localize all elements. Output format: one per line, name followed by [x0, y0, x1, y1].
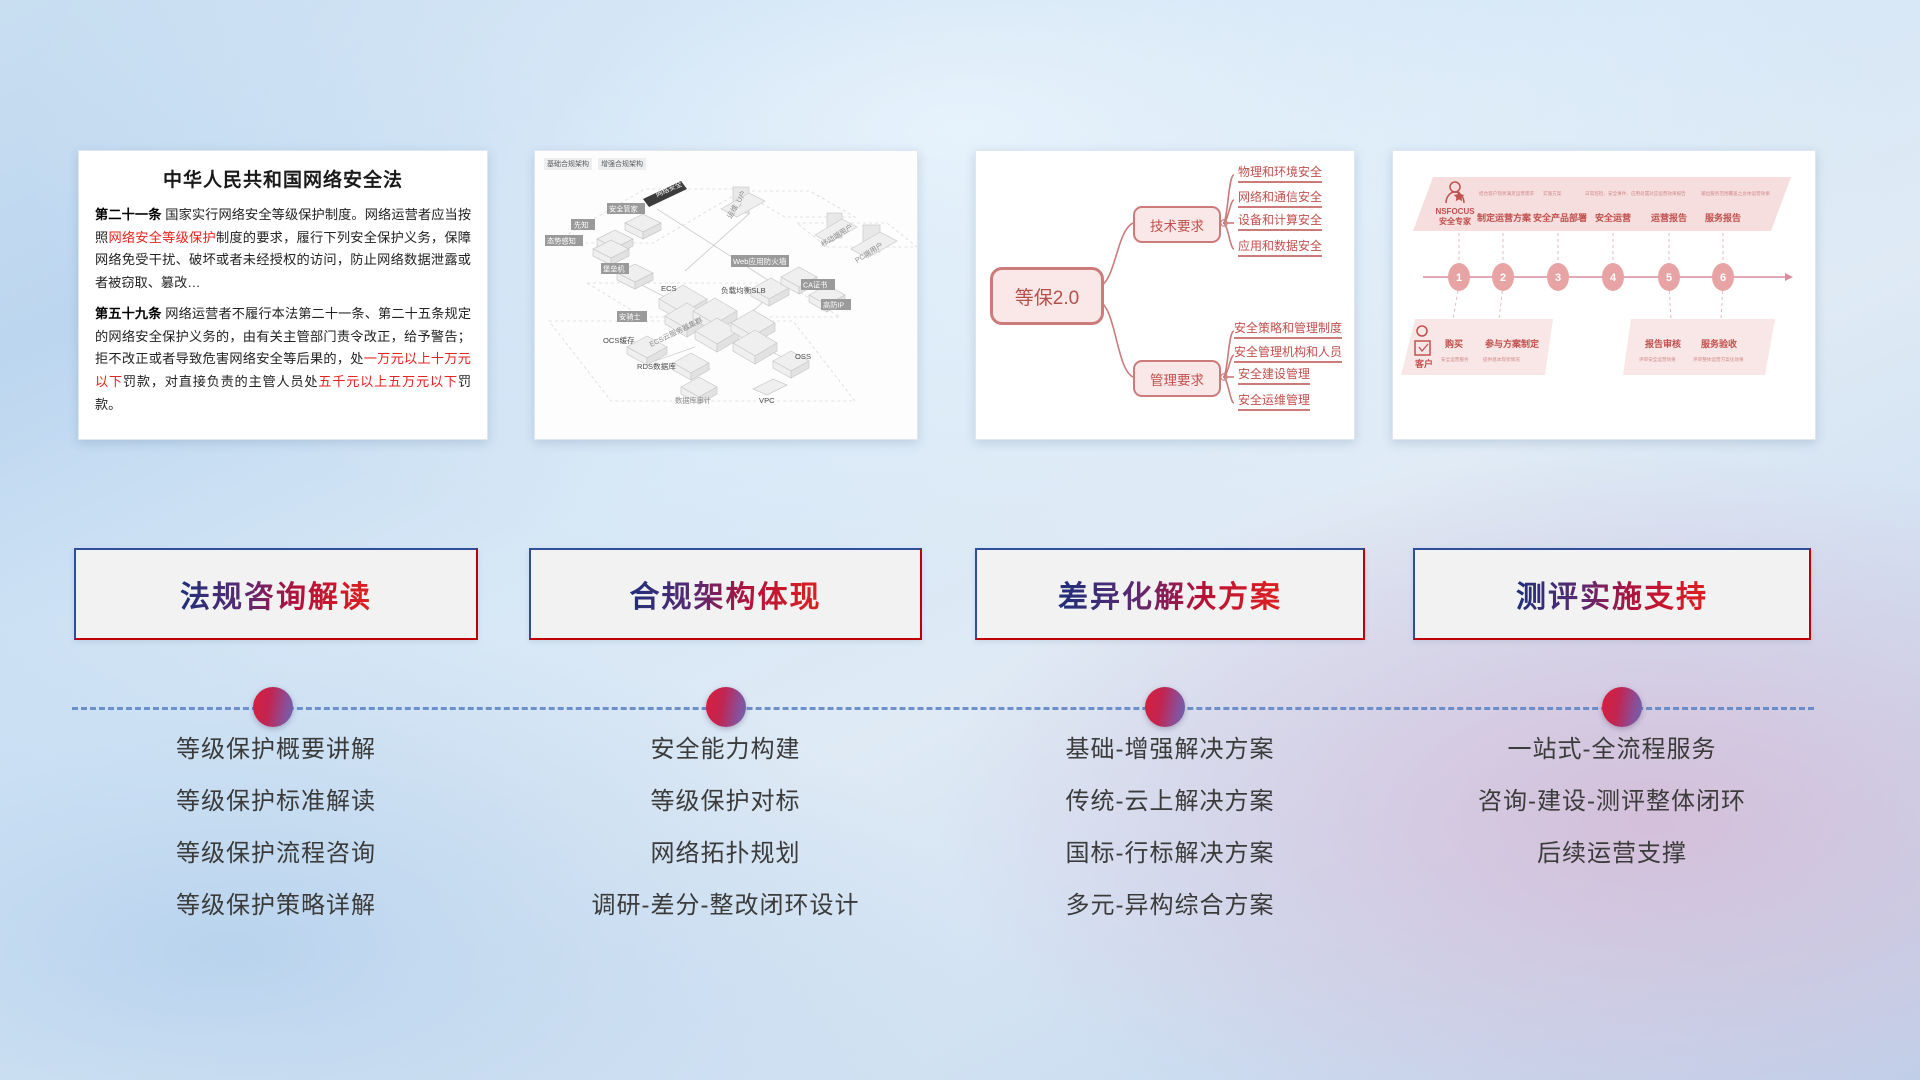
list-item: 咨询-建设-测评整体闭环 [1413, 790, 1811, 814]
arch-node-ca: CA证书 [803, 281, 827, 290]
card-service-roadmap[interactable]: 1 2 3 4 5 6 NSFOCUS 安全专家 制定运营方案 安全产品部署 安… [1392, 150, 1816, 440]
roadmap-step-5: 5 [1666, 272, 1672, 284]
list-item: 国标-行标解决方案 [975, 842, 1365, 866]
roadmap-bottom-label-2[interactable]: 参与方案制定 [1485, 337, 1539, 350]
section-title-box-4[interactable]: 测评实施支持 [1413, 548, 1811, 640]
roadmap-actor-customer: 客户 [1415, 357, 1433, 370]
section-detail-col-2: 安全能力构建 等级保护对标 网络拓扑规划 调研-差分-整改闭环设计 [529, 738, 922, 946]
mindmap-leaf-tech-4[interactable]: 应用和数据安全 [1238, 237, 1322, 257]
section-detail-row: 等级保护概要讲解 等级保护标准解读 等级保护流程咨询 等级保护策略详解 安全能力… [0, 738, 1920, 968]
law-title: 中华人民共和国网络安全法 [95, 165, 471, 192]
mindmap-root[interactable]: 等保2.0 [990, 267, 1104, 325]
arch-node-oss: OSS [795, 352, 811, 361]
roadmap-top-label-4[interactable]: 运营报告 [1651, 211, 1687, 224]
timeline-axis [0, 680, 1920, 740]
roadmap-diagram: 1 2 3 4 5 6 NSFOCUS 安全专家 制定运营方案 安全产品部署 安… [1393, 151, 1815, 439]
section-detail-col-4: 一站式-全流程服务 咨询-建设-测评整体闭环 后续运营支撑 [1413, 738, 1811, 894]
article-59-label: 第五十九条 [95, 306, 162, 321]
roadmap-step-3: 3 [1555, 272, 1561, 284]
list-item: 后续运营支撑 [1413, 842, 1811, 866]
list-item: 等级保护策略详解 [74, 894, 478, 918]
card-cybersecurity-law[interactable]: 中华人民共和国网络安全法 第二十一条 国家实行网络安全等级保护制度。网络运营者应… [78, 150, 488, 440]
arch-node-anqishi: 安骑士 [619, 313, 641, 322]
section-title-box-1[interactable]: 法规咨询解读 [74, 548, 478, 640]
roadmap-step-6: 6 [1720, 272, 1726, 284]
roadmap-bottom-label-1[interactable]: 购买 [1445, 337, 1463, 350]
timeline-dot-1[interactable] [253, 687, 293, 727]
list-item: 调研-差分-整改闭环设计 [529, 894, 922, 918]
article-21-highlight: 网络安全等级保护 [108, 230, 216, 245]
roadmap-top-sub-5: 输出服务范围覆盖之总体运营效果 [1701, 191, 1770, 197]
timeline-dot-2[interactable] [706, 687, 746, 727]
roadmap-bottom-sub-2: 提供基本现状情况 [1483, 357, 1520, 363]
section-title-label-2: 合规架构体现 [630, 572, 822, 616]
roadmap-top-sub-4: 对应运营效果报告 [1649, 191, 1686, 197]
card-cloud-architecture[interactable]: 基础合规架构 增强合规架构 [534, 150, 918, 440]
card-dengbao-mindmap[interactable]: 等保2.0 技术要求 管理要求 物理和环境安全 网络和通信安全 设备和计算安全 … [975, 150, 1355, 440]
section-detail-col-1: 等级保护概要讲解 等级保护标准解读 等级保护流程咨询 等级保护策略详解 [74, 738, 478, 946]
roadmap-bottom-sub-1: 安全运营服务 [1441, 357, 1469, 363]
arch-node-anquanguanjia: 安全管家 [609, 205, 638, 214]
law-article-59: 第五十九条 网络运营者不履行本法第二十一条、第二十五条规定的网络安全保护义务的，… [95, 303, 471, 417]
roadmap-top-sub-2: 实施方案 [1543, 191, 1561, 197]
article-59-highlight-b: 五千元以上五万元以下 [318, 374, 458, 389]
mindmap-leaf-tech-3[interactable]: 设备和计算安全 [1238, 211, 1322, 231]
mindmap-leaf-mgmt-3[interactable]: 安全建设管理 [1238, 365, 1310, 385]
arch-node-ecs: ECS [661, 284, 677, 293]
roadmap-bottom-label-4[interactable]: 服务验收 [1701, 337, 1737, 350]
roadmap-top-label-2[interactable]: 安全产品部署 [1533, 211, 1587, 224]
roadmap-actor-nsfocus-line1: NSFOCUS [1431, 207, 1479, 216]
list-item: 等级保护标准解读 [74, 790, 478, 814]
roadmap-top-label-1[interactable]: 制定运营方案 [1477, 211, 1531, 224]
timeline-dashed-line [72, 707, 1814, 710]
arch-node-baoleiji: 堡垒机 [603, 265, 625, 274]
section-title-box-2[interactable]: 合规架构体现 [529, 548, 922, 640]
mindmap-branch-mgmt[interactable]: 管理要求 [1133, 360, 1221, 397]
roadmap-actor-nsfocus-line2: 安全专家 [1431, 216, 1479, 227]
roadmap-top-label-5[interactable]: 服务报告 [1705, 211, 1741, 224]
timeline-dot-4[interactable] [1602, 687, 1642, 727]
mindmap-diagram: 等保2.0 技术要求 管理要求 物理和环境安全 网络和通信安全 设备和计算安全 … [976, 151, 1354, 439]
arch-node-xianzhi: 先知 [574, 221, 588, 230]
architecture-diagram: 基础合规架构 增强合规架构 [535, 151, 917, 439]
roadmap-step-1: 1 [1456, 272, 1462, 284]
roadmap-top-sub-1: 结合客户现状满足运营需求 [1479, 191, 1534, 197]
arch-node-rds: RDS数据库 [637, 361, 676, 371]
list-item: 等级保护概要讲解 [74, 738, 478, 762]
roadmap-top-sub-3: 日常巡检、安全事件、应用处置 [1585, 191, 1649, 197]
list-item: 一站式-全流程服务 [1413, 738, 1811, 762]
roadmap-step-2: 2 [1500, 272, 1506, 284]
list-item: 网络拓扑规划 [529, 842, 922, 866]
arch-node-slb: 负载均衡SLB [721, 285, 766, 295]
arch-node-vpc: VPC [759, 396, 775, 405]
mindmap-leaf-tech-2[interactable]: 网络和通信安全 [1238, 188, 1322, 208]
arch-node-ocs: OCS缓存 [603, 335, 635, 345]
arch-node-taishiganzhi: 态势感知 [547, 237, 576, 246]
section-title-label-3: 差异化解决方案 [1058, 572, 1282, 616]
list-item: 传统-云上解决方案 [975, 790, 1365, 814]
list-item: 安全能力构建 [529, 738, 922, 762]
slide-canvas: 中华人民共和国网络安全法 第二十一条 国家实行网络安全等级保护制度。网络运营者应… [0, 0, 1920, 1080]
list-item: 等级保护对标 [529, 790, 922, 814]
list-item: 基础-增强解决方案 [975, 738, 1365, 762]
law-article-21: 第二十一条 国家实行网络安全等级保护制度。网络运营者应当按照网络安全等级保护制度… [95, 204, 471, 295]
list-item: 多元-异构综合方案 [975, 894, 1365, 918]
roadmap-top-label-3[interactable]: 安全运营 [1595, 211, 1631, 224]
roadmap-bottom-sub-3: 评审安全运营效果 [1639, 357, 1676, 363]
section-detail-col-3: 基础-增强解决方案 传统-云上解决方案 国标-行标解决方案 多元-异构综合方案 [975, 738, 1365, 946]
architecture-svg: 网络安全 安全管家 先知 态势感知 堡垒机 安骑士 Web应用防火墙 CA证书 … [535, 151, 917, 439]
mindmap-leaf-tech-1[interactable]: 物理和环境安全 [1238, 163, 1322, 183]
arch-node-waf: Web应用防火墙 [733, 256, 787, 266]
section-title-box-3[interactable]: 差异化解决方案 [975, 548, 1365, 640]
mindmap-branch-tech[interactable]: 技术要求 [1133, 206, 1221, 243]
arch-node-gaofangip: 高防IP [823, 301, 844, 310]
section-title-row: 法规咨询解读 合规架构体现 差异化解决方案 测评实施支持 [0, 548, 1920, 644]
section-title-label-4: 测评实施支持 [1516, 572, 1708, 616]
mindmap-leaf-mgmt-2[interactable]: 安全管理机构和人员 [1234, 343, 1342, 363]
list-item: 等级保护流程咨询 [74, 842, 478, 866]
article-59-text-b: 罚款，对直接负责的主管人员处 [123, 374, 318, 389]
roadmap-bottom-label-3[interactable]: 报告审核 [1645, 337, 1681, 350]
article-21-label: 第二十一条 [95, 207, 162, 222]
law-document: 中华人民共和国网络安全法 第二十一条 国家实行网络安全等级保护制度。网络运营者应… [79, 151, 487, 439]
roadmap-bottom-sub-4: 评审整体运营方案化效果 [1693, 357, 1744, 363]
roadmap-step-4: 4 [1610, 272, 1617, 284]
arch-node-dbaudit: 数据库审计 [675, 396, 711, 405]
timeline-dot-3[interactable] [1145, 687, 1185, 727]
mindmap-leaf-mgmt-4[interactable]: 安全运维管理 [1238, 391, 1310, 411]
section-title-label-1: 法规咨询解读 [180, 572, 372, 616]
image-card-row: 中华人民共和国网络安全法 第二十一条 国家实行网络安全等级保护制度。网络运营者应… [0, 150, 1920, 445]
mindmap-leaf-mgmt-1[interactable]: 安全策略和管理制度 [1234, 319, 1342, 339]
